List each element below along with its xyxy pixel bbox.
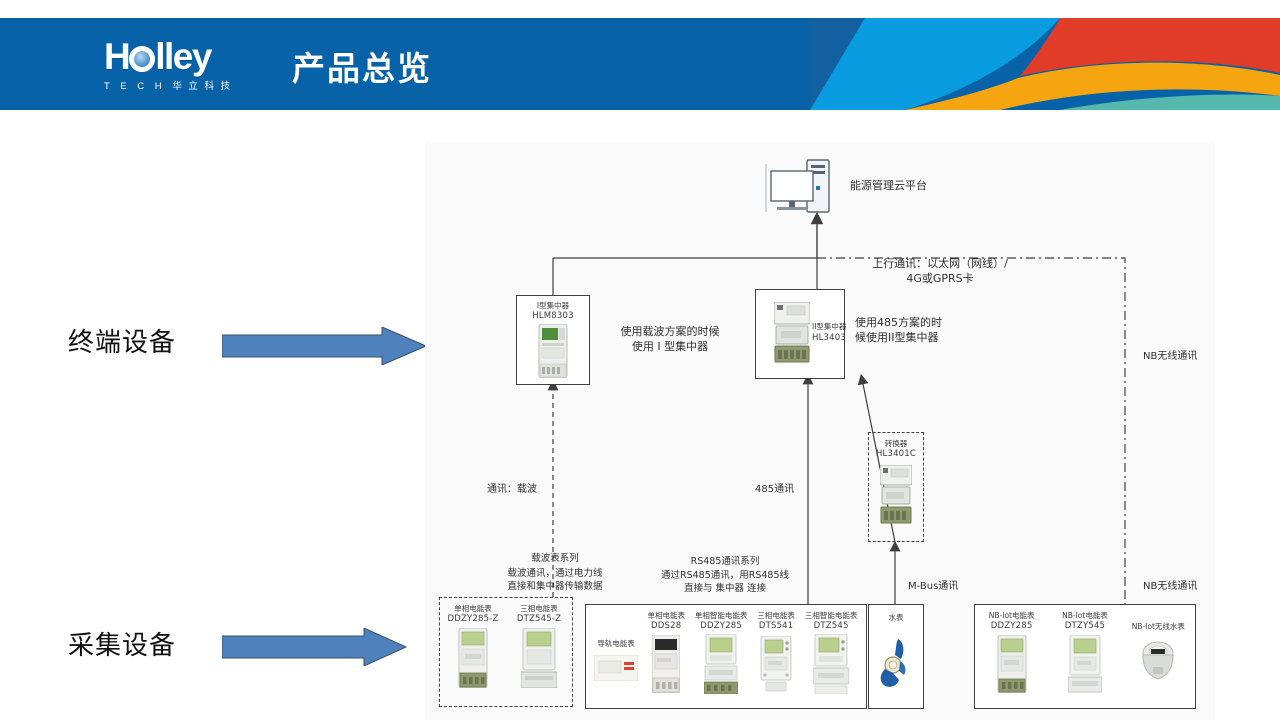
carrier-meter-1-title: 三相电能表 (509, 604, 569, 614)
carrier-meter-0-title: 单相电能表 (443, 604, 503, 614)
converter-title: 转换器 (869, 439, 923, 449)
concentrator-type1-device-image (536, 324, 570, 378)
cloud-platform-label: 能源管理云平台 (850, 178, 927, 193)
concentrator-type1-title: I型集中器 (517, 301, 589, 311)
converter-model: HL3401C (869, 449, 923, 459)
nbiot-meter-group[interactable]: NB-Iot电能表 DDZY285 NB-Iot电能表 DTZY545 (974, 604, 1196, 709)
rs485-meter-4-title: 三相智能电能表 (801, 611, 861, 621)
architecture-diagram: 能源管理云平台 上行通讯：以太网（网线）/ 4G或GPRS卡 I型集中器 HLM… (425, 142, 1215, 720)
rs485-meter-4-model: DTZ545 (801, 621, 861, 631)
concentrator-type2-note-line1: 使用485方案的时 (855, 315, 942, 330)
page-header: Hlley T E C H 华 立 科 技 产品总览 (0, 18, 1280, 110)
concentrator-type2-box[interactable]: II型集中器 HL3403 (755, 289, 845, 379)
nbiot-meter-1-model: DTZY545 (1051, 621, 1119, 631)
rs485-group-desc-line2: 直接与 集中器 连接 (605, 582, 845, 595)
water-meter-image (876, 633, 916, 691)
rs485-group-desc-line1: 通过RS485通讯，用RS485线 (605, 569, 845, 582)
carrier-meter-1-image (521, 628, 557, 688)
nbiot-meter-0-model: DDZY285 (978, 621, 1046, 631)
carrier-meter-0-model: DDZY285-Z (443, 614, 503, 624)
nbiot-meter-2-title: NB-Iot无线水表 (1124, 622, 1192, 632)
nbiot-meter-1-title: NB-Iot电能表 (1051, 611, 1119, 621)
nbiot-meter-0-image (997, 635, 1027, 693)
uplink-note-line2: 4G或GPRS卡 (825, 271, 1055, 286)
concentrator-type2-device-image (774, 302, 810, 364)
carrier-meter-0-image (458, 628, 488, 688)
concentrator-type2-note-line2: 候使用II型集中器 (855, 330, 939, 345)
list-item[interactable]: 导轨电能表 (591, 639, 641, 681)
label-collection-equipment: 采集设备 (68, 625, 176, 662)
list-item[interactable]: 单相智能电能表 DDZY285 (691, 611, 751, 708)
link-label-nb-right: NB无线通讯 (1143, 350, 1197, 364)
list-item[interactable]: 单相电能表 DDS28 (641, 611, 691, 708)
list-item[interactable]: 单相电能表 DDZY285-Z (443, 604, 503, 706)
label-terminal-equipment: 终端设备 (68, 322, 176, 359)
concentrator-type1-model: HLM8303 (517, 311, 589, 321)
carrier-meter-1-model: DTZ545-Z (509, 614, 569, 624)
concentrator-type1-note-line2: 使用 I 型集中器 (585, 339, 755, 354)
rs485-meter-2-model: DDZY285 (691, 621, 751, 631)
rs485-meter-3-image (760, 636, 792, 692)
carrier-meter-group[interactable]: 单相电能表 DDZY285-Z 三相电能表 DTZ545-Z (439, 597, 573, 707)
link-label-mbus: M-Bus通讯 (908, 580, 958, 594)
nbiot-meter-2-image (1139, 639, 1177, 683)
list-item[interactable]: 三相电能表 DTS541 (751, 611, 801, 708)
concentrator-type1-box[interactable]: I型集中器 HLM8303 (516, 295, 590, 385)
water-meter-title: 水表 (869, 613, 923, 623)
concentrator-type2-title: II型集中器 (812, 322, 846, 332)
concentrator-type2-model: HL3403 (812, 333, 846, 343)
list-item[interactable]: 三相电能表 DTZ545-Z (509, 604, 569, 706)
logo-sub-cn: 华 立 科 技 (172, 81, 232, 92)
water-meter-group[interactable]: 水表 (868, 604, 924, 709)
list-item[interactable]: NB-Iot电能表 DTZY545 (1051, 611, 1119, 708)
nbiot-meter-0-title: NB-Iot电能表 (978, 611, 1046, 621)
rs485-group-heading: RS485通讯系列 (615, 555, 835, 568)
link-label-carrier: 通讯：载波 (487, 483, 537, 497)
converter-device-image (880, 465, 912, 527)
rs485-meter-0-title: 导轨电能表 (591, 639, 641, 649)
rs485-meter-1-model: DDS28 (641, 621, 691, 631)
page-title: 产品总览 (292, 42, 432, 90)
list-item[interactable]: NB-Iot电能表 DDZY285 (978, 611, 1046, 708)
uplink-note-line1: 上行通讯：以太网（网线）/ (825, 256, 1055, 271)
rs485-meter-0-image (594, 655, 638, 681)
link-label-nb-bottom: NB无线通讯 (1143, 580, 1197, 594)
concentrator-type1-note-line1: 使用载波方案的时候 (585, 324, 755, 339)
rs485-meter-1-image (652, 635, 680, 693)
rs485-meter-2-title: 单相智能电能表 (691, 611, 751, 621)
link-label-rs485: 485通讯 (755, 483, 794, 497)
logo-o-ring-icon (129, 46, 155, 72)
nbiot-meter-1-image (1068, 635, 1102, 693)
rs485-meter-3-model: DTS541 (751, 621, 801, 631)
rs485-meter-4-image (813, 634, 849, 694)
rs485-meter-group[interactable]: 导轨电能表 单相电能表 DDS28 (585, 604, 867, 709)
holley-logo-mark: Hlley (104, 38, 276, 76)
arrow-terminal-equipment (222, 327, 428, 365)
cloud-platform-icon (765, 156, 837, 218)
holley-logo: Hlley T E C H 华 立 科 技 (104, 38, 276, 94)
rs485-meter-3-title: 三相电能表 (751, 611, 801, 621)
list-item[interactable]: NB-Iot无线水表 (1124, 611, 1192, 708)
header-swoosh-decoration (810, 18, 1280, 110)
converter-box[interactable]: 转换器 HL3401C (868, 432, 924, 542)
holley-logo-subtitle: T E C H 华 立 科 技 (104, 78, 276, 92)
list-item[interactable]: 三相智能电能表 DTZ545 (801, 611, 861, 708)
rs485-meter-2-image (704, 634, 738, 694)
arrow-collection-equipment (222, 628, 408, 666)
rs485-meter-1-title: 单相电能表 (641, 611, 691, 621)
logo-sub-en: T E C H (104, 81, 166, 92)
